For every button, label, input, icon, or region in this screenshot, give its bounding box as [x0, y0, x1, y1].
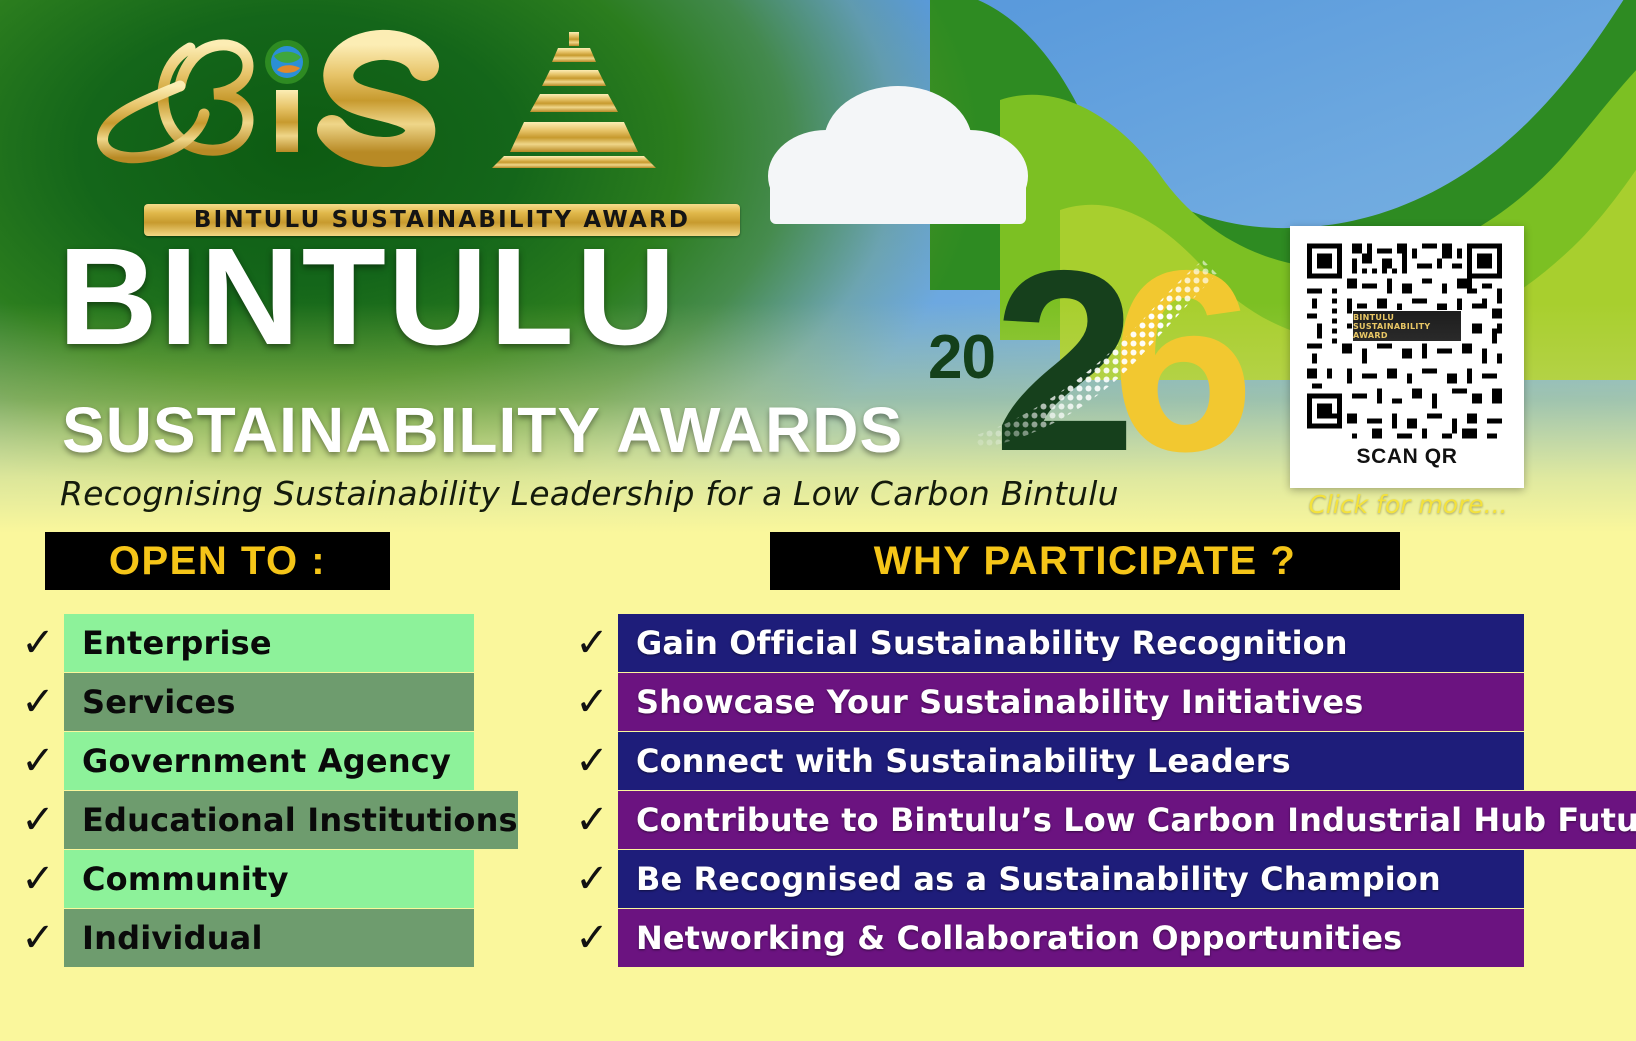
why-participate-row-bar: Be Recognised as a Sustainability Champi… — [618, 850, 1524, 908]
year-badge: 6 2 — [915, 236, 1215, 516]
list-item-label: Connect with Sustainability Leaders — [618, 742, 1291, 780]
check-icon: ✓ — [566, 918, 618, 958]
why-participate-row-bar: Networking & Collaboration Opportunities — [618, 909, 1524, 967]
list-item-label: Individual — [64, 919, 263, 957]
check-icon: ✓ — [566, 623, 618, 663]
section-header-open-to: OPEN TO : — [45, 532, 390, 590]
list-item: ✓Government Agency — [12, 732, 474, 790]
why-participate-row-bar: Gain Official Sustainability Recognition — [618, 614, 1524, 672]
check-icon: ✓ — [566, 682, 618, 722]
list-item: ✓Community — [12, 850, 474, 908]
open-to-row-bar: Services — [64, 673, 474, 731]
check-icon: ✓ — [12, 623, 64, 663]
check-icon: ✓ — [566, 741, 618, 781]
check-icon: ✓ — [566, 859, 618, 899]
open-to-row-bar: Government Agency — [64, 732, 474, 790]
check-icon: ✓ — [12, 859, 64, 899]
list-item-label: Contribute to Bintulu’s Low Carbon Indus… — [618, 801, 1636, 839]
list-item: ✓Gain Official Sustainability Recognitio… — [566, 614, 1524, 672]
list-item-label: Community — [64, 860, 289, 898]
page-subtitle: SUSTAINABILITY AWARDS — [62, 398, 903, 462]
why-participate-row-bar: Connect with Sustainability Leaders — [618, 732, 1524, 790]
click-for-more-label[interactable]: Click for more... — [1296, 490, 1520, 519]
list-item-label: Services — [64, 683, 236, 721]
list-item-label: Gain Official Sustainability Recognition — [618, 624, 1348, 662]
list-item-label: Enterprise — [64, 624, 272, 662]
list-item: ✓Individual — [12, 909, 474, 967]
list-item-label: Be Recognised as a Sustainability Champi… — [618, 860, 1441, 898]
list-item: ✓Be Recognised as a Sustainability Champ… — [566, 850, 1524, 908]
bisa-logo[interactable]: BINTULU SUSTAINABILITY AWARD — [72, 26, 672, 212]
open-to-row-bar: Individual — [64, 909, 474, 967]
section-header-why-participate: WHY PARTICIPATE ? — [770, 532, 1400, 590]
list-item: ✓Contribute to Bintulu’s Low Carbon Indu… — [566, 791, 1524, 849]
page-title: BINTULU — [58, 232, 678, 363]
list-item: ✓Networking & Collaboration Opportunitie… — [566, 909, 1524, 967]
open-to-list: ✓Enterprise✓Services✓Government Agency✓E… — [12, 614, 474, 968]
list-item: ✓Educational Institutions — [12, 791, 474, 849]
why-participate-row-bar: Showcase Your Sustainability Initiatives — [618, 673, 1524, 731]
list-item: ✓Services — [12, 673, 474, 731]
check-icon: ✓ — [12, 741, 64, 781]
list-item-label: Networking & Collaboration Opportunities — [618, 919, 1402, 957]
halftone-swoosh — [967, 258, 1217, 448]
bisa-logo-mark — [72, 26, 672, 166]
qr-code-icon[interactable]: BINTULU SUSTAINABILITY AWARD — [1302, 238, 1512, 444]
why-participate-row-bar: Contribute to Bintulu’s Low Carbon Indus… — [618, 791, 1636, 849]
year-prefix: 20 — [928, 322, 995, 393]
list-item-label: Government Agency — [64, 742, 451, 780]
open-to-row-bar: Educational Institutions — [64, 791, 518, 849]
qr-embedded-logo: BINTULU SUSTAINABILITY AWARD — [1352, 310, 1462, 342]
qr-embedded-logo-text: BINTULU SUSTAINABILITY AWARD — [1353, 313, 1461, 340]
check-icon: ✓ — [12, 800, 64, 840]
scan-qr-label: SCAN QR — [1302, 445, 1512, 469]
open-to-row-bar: Enterprise — [64, 614, 474, 672]
why-participate-list: ✓Gain Official Sustainability Recognitio… — [566, 614, 1524, 968]
list-item-label: Educational Institutions — [64, 801, 518, 839]
list-item: ✓Enterprise — [12, 614, 474, 672]
check-icon: ✓ — [566, 800, 618, 840]
list-item: ✓Showcase Your Sustainability Initiative… — [566, 673, 1524, 731]
section-header-why-participate-text: WHY PARTICIPATE ? — [874, 539, 1297, 584]
qr-card[interactable]: BINTULU SUSTAINABILITY AWARD SCAN QR — [1290, 226, 1524, 488]
check-icon: ✓ — [12, 918, 64, 958]
poster-root: BINTULU SUSTAINABILITY AWARD BINTULU SUS… — [0, 0, 1636, 1041]
list-item: ✓Connect with Sustainability Leaders — [566, 732, 1524, 790]
cloud-icon — [748, 84, 1048, 234]
list-item-label: Showcase Your Sustainability Initiatives — [618, 683, 1363, 721]
check-icon: ✓ — [12, 682, 64, 722]
open-to-row-bar: Community — [64, 850, 474, 908]
section-header-open-to-text: OPEN TO : — [109, 539, 326, 584]
